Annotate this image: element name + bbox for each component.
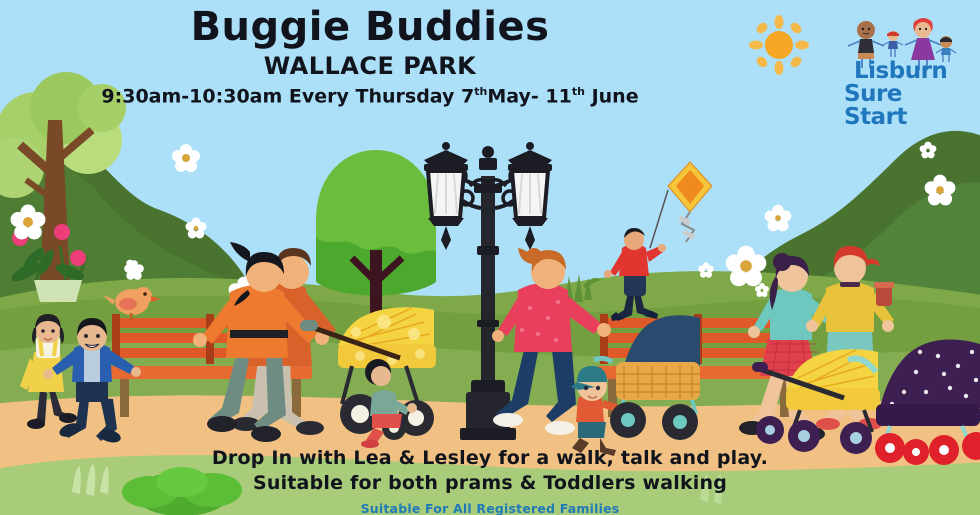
scene-illustration: [0, 0, 980, 515]
poster-canvas: Lisburn Sure Start Buggie Buddies WALLAC…: [0, 0, 980, 515]
coffee-cup: [876, 286, 892, 306]
logo-wordmark: Lisburn Sure Start: [854, 60, 966, 129]
logo-figure-child-red: [883, 31, 903, 57]
logo-line-2: Sure Start: [844, 83, 966, 129]
flower-pot: [34, 280, 82, 302]
sun-icon: [748, 14, 810, 76]
